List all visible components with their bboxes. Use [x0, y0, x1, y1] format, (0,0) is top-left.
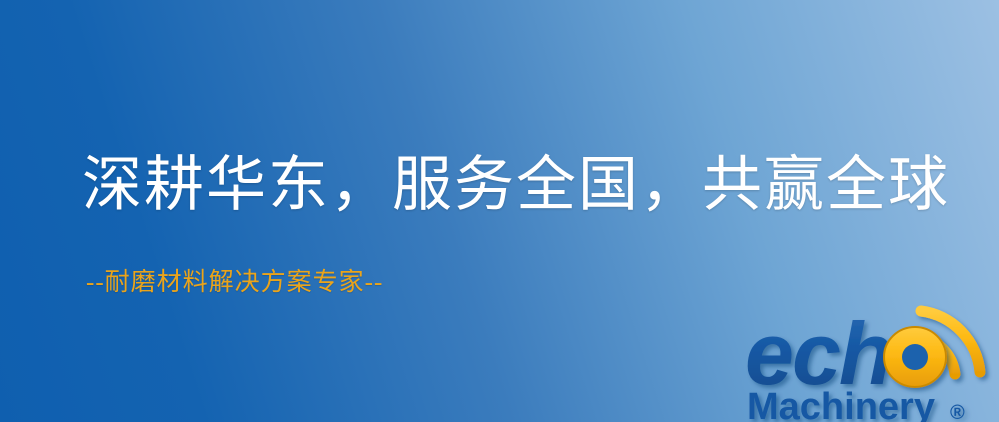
logo-artwork: ech Machinery ®: [745, 292, 999, 422]
banner-headline: 深耕华东，服务全国，共赢全球: [82, 149, 950, 221]
company-logo[interactable]: ech Machinery ®: [745, 292, 999, 422]
logo-wordmark-o: [884, 327, 946, 387]
svg-text:Machinery: Machinery: [747, 386, 935, 422]
banner-subtitle: --耐磨材料解决方案专家--: [86, 267, 383, 299]
svg-text:®: ®: [950, 402, 965, 422]
logo-tagline: Machinery ®: [747, 386, 965, 422]
hero-banner: 深耕华东，服务全国，共赢全球 --耐磨材料解决方案专家--: [0, 0, 999, 422]
